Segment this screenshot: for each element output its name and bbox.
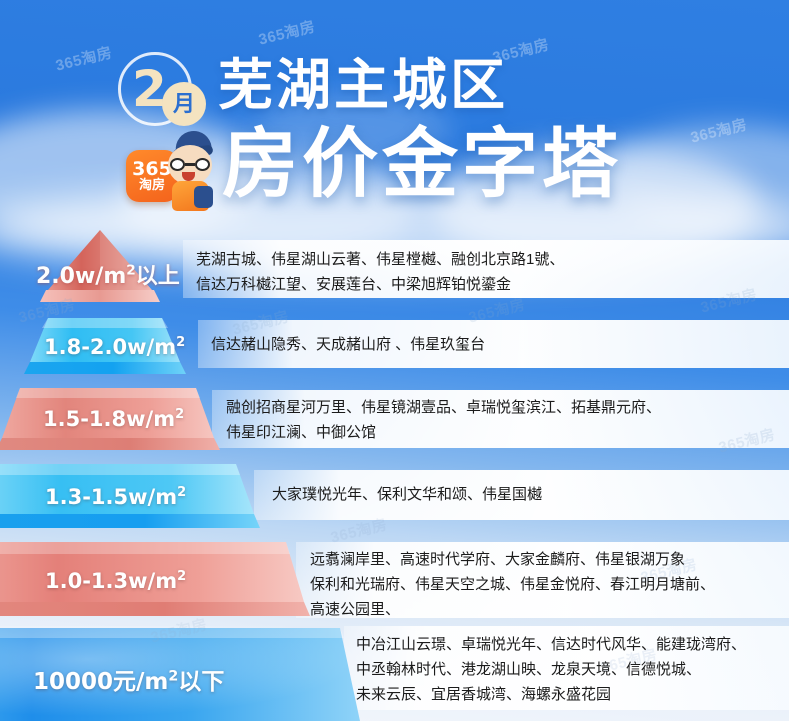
pyramid-level-4: 1.3-1.5w/m2 大家璞悦光年、保利文华和颂、伟星国樾 xyxy=(0,458,789,536)
title-line-2: 房价金字塔 xyxy=(222,120,622,210)
level-2-price-label: 1.8-2.0w/m2 xyxy=(44,335,185,359)
level-4-projects: 大家璞悦光年、保利文华和颂、伟星国樾 xyxy=(272,482,782,507)
level-1-projects: 芜湖古城、伟星湖山云著、伟星樘樾、融创北京路1號、 信达万科樾江望、安展莲台、中… xyxy=(196,247,776,297)
level-3-projects: 融创招商星河万里、伟星镜湖壹品、卓瑞悦玺滨江、拓基鼎元府、 伟星印江澜、中御公馆 xyxy=(226,395,782,445)
level-5-projects: 远翥澜岸里、高速时代学府、大家金麟府、伟星银湖万象 保利和光瑞府、伟星天空之城、… xyxy=(310,547,780,622)
title-line-1: 芜湖主城区 xyxy=(218,52,508,118)
level-3-price-label: 1.5-1.8w/m2 xyxy=(43,407,184,431)
pyramid-level-3: 1.5-1.8w/m2 融创招商星河万里、伟星镜湖壹品、卓瑞悦玺滨江、拓基鼎元府… xyxy=(0,382,789,458)
mascot-character-icon xyxy=(160,131,222,215)
level-1-price-label: 2.0w/m2以上 xyxy=(36,258,180,290)
pyramid-level-1: 2.0w/m2以上 芜湖古城、伟星湖山云著、伟星樘樾、融创北京路1號、 信达万科… xyxy=(0,228,789,310)
level-4-price-label: 1.3-1.5w/m2 xyxy=(45,485,186,509)
pyramid-level-6: 10000元/m2以下 中冶江山云璟、卓瑞悦光年、信达时代风华、能建珑湾府、 中… xyxy=(0,626,789,721)
infographic-poster: 2 月 芜湖主城区 房价金字塔 365 淘房 xyxy=(0,0,789,721)
poster-header: 2 月 芜湖主城区 房价金字塔 365 淘房 xyxy=(0,0,789,228)
pyramid-level-5: 1.0-1.3w/m2 远翥澜岸里、高速时代学府、大家金麟府、伟星银湖万象 保利… xyxy=(0,536,789,626)
level-6-price-label: 10000元/m2以下 xyxy=(33,662,224,696)
month-unit-label: 月 xyxy=(173,93,195,115)
pyramid-level-2: 1.8-2.0w/m2 信达赭山隐秀、天成赭山府 、伟星玖玺台 xyxy=(0,310,789,382)
month-unit-circle: 月 xyxy=(162,82,206,126)
level-5-price-label: 1.0-1.3w/m2 xyxy=(45,569,186,593)
level-6-projects: 中冶江山云璟、卓瑞悦光年、信达时代风华、能建珑湾府、 中丞翰林时代、港龙湖山映、… xyxy=(356,632,781,707)
price-pyramid-chart: 2.0w/m2以上 芜湖古城、伟星湖山云著、伟星樘樾、融创北京路1號、 信达万科… xyxy=(0,228,789,721)
month-badge: 2 月 xyxy=(118,52,196,130)
level-2-projects: 信达赭山隐秀、天成赭山府 、伟星玖玺台 xyxy=(211,332,776,357)
